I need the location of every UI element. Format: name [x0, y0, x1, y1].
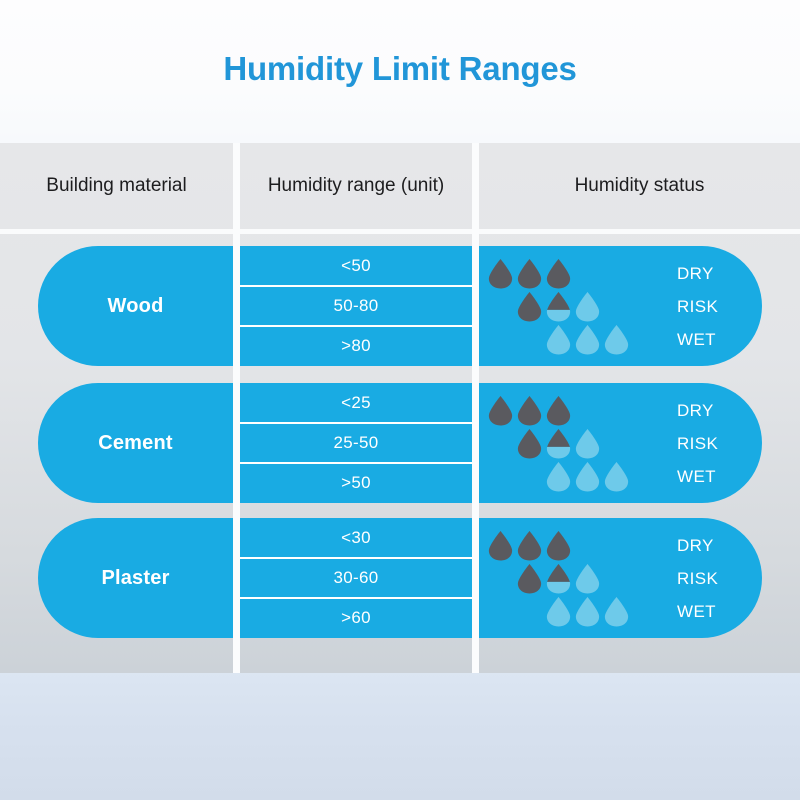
- water-drop-dry-icon: [487, 395, 514, 427]
- water-drop-dry-icon: [516, 291, 543, 323]
- drop-row-risk: [487, 291, 667, 323]
- range-value: <30: [341, 528, 371, 548]
- range-divider: [240, 285, 472, 287]
- humidity-table: Building material Humidity range (unit) …: [0, 143, 800, 673]
- water-drop-half-icon: [545, 563, 572, 595]
- range-value: >60: [341, 608, 371, 628]
- range-band[interactable]: <30: [240, 518, 472, 558]
- material-pill-wood[interactable]: Wood: [38, 246, 233, 366]
- range-band[interactable]: 30-60: [240, 558, 472, 598]
- water-drop-wet-icon: [574, 461, 601, 493]
- material-pill-cement[interactable]: Cement: [38, 383, 233, 503]
- range-band[interactable]: >80: [240, 326, 472, 366]
- water-drop-wet-icon: [545, 596, 572, 628]
- column-gutter-2: [472, 143, 479, 673]
- humidity-drop-grid: [487, 530, 667, 628]
- water-drop-dry-icon: [516, 563, 543, 595]
- status-label-wet: WET: [677, 324, 716, 356]
- table-row: Wood<5050-80>80DRYRISKWET: [0, 246, 800, 366]
- material-label: Wood: [108, 295, 164, 318]
- page-title-wrap: Humidity Limit Ranges: [0, 52, 800, 85]
- water-drop-dry-icon: [516, 395, 543, 427]
- header-separator: [0, 229, 800, 234]
- water-drop-dry-icon: [516, 258, 543, 290]
- water-drop-wet-icon: [603, 461, 630, 493]
- water-drop-wet-icon: [545, 324, 572, 356]
- header-label-status: Humidity status: [575, 175, 705, 197]
- drop-row-wet: [487, 324, 667, 356]
- range-divider: [240, 557, 472, 559]
- material-label: Plaster: [101, 567, 169, 590]
- range-block: <2525-50>50: [240, 383, 472, 503]
- range-band[interactable]: >60: [240, 598, 472, 638]
- table-header-cell-status: Humidity status: [479, 143, 800, 229]
- range-value: >80: [341, 336, 371, 356]
- water-drop-half-icon: [545, 291, 572, 323]
- humidity-drop-grid: [487, 258, 667, 356]
- infographic-page: Humidity Limit Ranges Building material …: [0, 0, 800, 800]
- status-label-column: DRYRISKWET: [677, 258, 762, 356]
- humidity-drop-grid: [487, 395, 667, 493]
- status-label-wet: WET: [677, 596, 716, 628]
- range-value: 30-60: [334, 568, 379, 588]
- page-title: Humidity Limit Ranges: [0, 52, 800, 85]
- water-drop-wet-icon: [574, 596, 601, 628]
- water-drop-dry-icon: [545, 258, 572, 290]
- drop-row-dry: [487, 258, 667, 290]
- range-divider: [240, 462, 472, 464]
- column-gutter-1: [233, 143, 240, 673]
- water-drop-dry-icon: [545, 395, 572, 427]
- water-drop-wet-icon: [574, 291, 601, 323]
- material-pill-plaster[interactable]: Plaster: [38, 518, 233, 638]
- status-pill: DRYRISKWET: [479, 383, 762, 503]
- material-label: Cement: [98, 432, 173, 455]
- range-divider: [240, 422, 472, 424]
- header-label-range: Humidity range (unit): [268, 175, 444, 197]
- drop-row-risk: [487, 428, 667, 460]
- status-label-column: DRYRISKWET: [677, 530, 762, 628]
- water-drop-wet-icon: [574, 428, 601, 460]
- range-divider: [240, 325, 472, 327]
- drop-row-wet: [487, 461, 667, 493]
- water-drop-dry-icon: [545, 530, 572, 562]
- header-label-material: Building material: [46, 175, 186, 197]
- range-block: <3030-60>60: [240, 518, 472, 638]
- water-drop-dry-icon: [487, 258, 514, 290]
- water-drop-wet-icon: [545, 461, 572, 493]
- status-label-column: DRYRISKWET: [677, 395, 762, 493]
- drop-row-dry: [487, 395, 667, 427]
- range-block: <5050-80>80: [240, 246, 472, 366]
- range-band[interactable]: 25-50: [240, 423, 472, 463]
- range-band[interactable]: <50: [240, 246, 472, 286]
- status-pill: DRYRISKWET: [479, 518, 762, 638]
- water-drop-half-icon: [545, 428, 572, 460]
- water-drop-wet-icon: [574, 563, 601, 595]
- water-drop-dry-icon: [516, 428, 543, 460]
- status-label-risk: RISK: [677, 291, 718, 323]
- status-pill: DRYRISKWET: [479, 246, 762, 366]
- drop-row-risk: [487, 563, 667, 595]
- drop-row-dry: [487, 530, 667, 562]
- water-drop-wet-icon: [603, 596, 630, 628]
- range-value: 25-50: [334, 433, 379, 453]
- range-value: >50: [341, 473, 371, 493]
- drop-row-wet: [487, 596, 667, 628]
- range-band[interactable]: >50: [240, 463, 472, 503]
- status-label-risk: RISK: [677, 428, 718, 460]
- range-value: <25: [341, 393, 371, 413]
- range-band[interactable]: <25: [240, 383, 472, 423]
- range-value: <50: [341, 256, 371, 276]
- status-label-dry: DRY: [677, 258, 714, 290]
- range-divider: [240, 597, 472, 599]
- range-value: 50-80: [334, 296, 379, 316]
- range-band[interactable]: 50-80: [240, 286, 472, 326]
- table-row: Plaster<3030-60>60DRYRISKWET: [0, 518, 800, 638]
- table-header-cell-range: Humidity range (unit): [240, 143, 472, 229]
- water-drop-wet-icon: [574, 324, 601, 356]
- water-drop-dry-icon: [487, 530, 514, 562]
- status-label-dry: DRY: [677, 530, 714, 562]
- water-drop-wet-icon: [603, 324, 630, 356]
- table-row: Cement<2525-50>50DRYRISKWET: [0, 383, 800, 503]
- table-header-cell-material: Building material: [0, 143, 233, 229]
- status-label-dry: DRY: [677, 395, 714, 427]
- status-label-risk: RISK: [677, 563, 718, 595]
- water-drop-dry-icon: [516, 530, 543, 562]
- status-label-wet: WET: [677, 461, 716, 493]
